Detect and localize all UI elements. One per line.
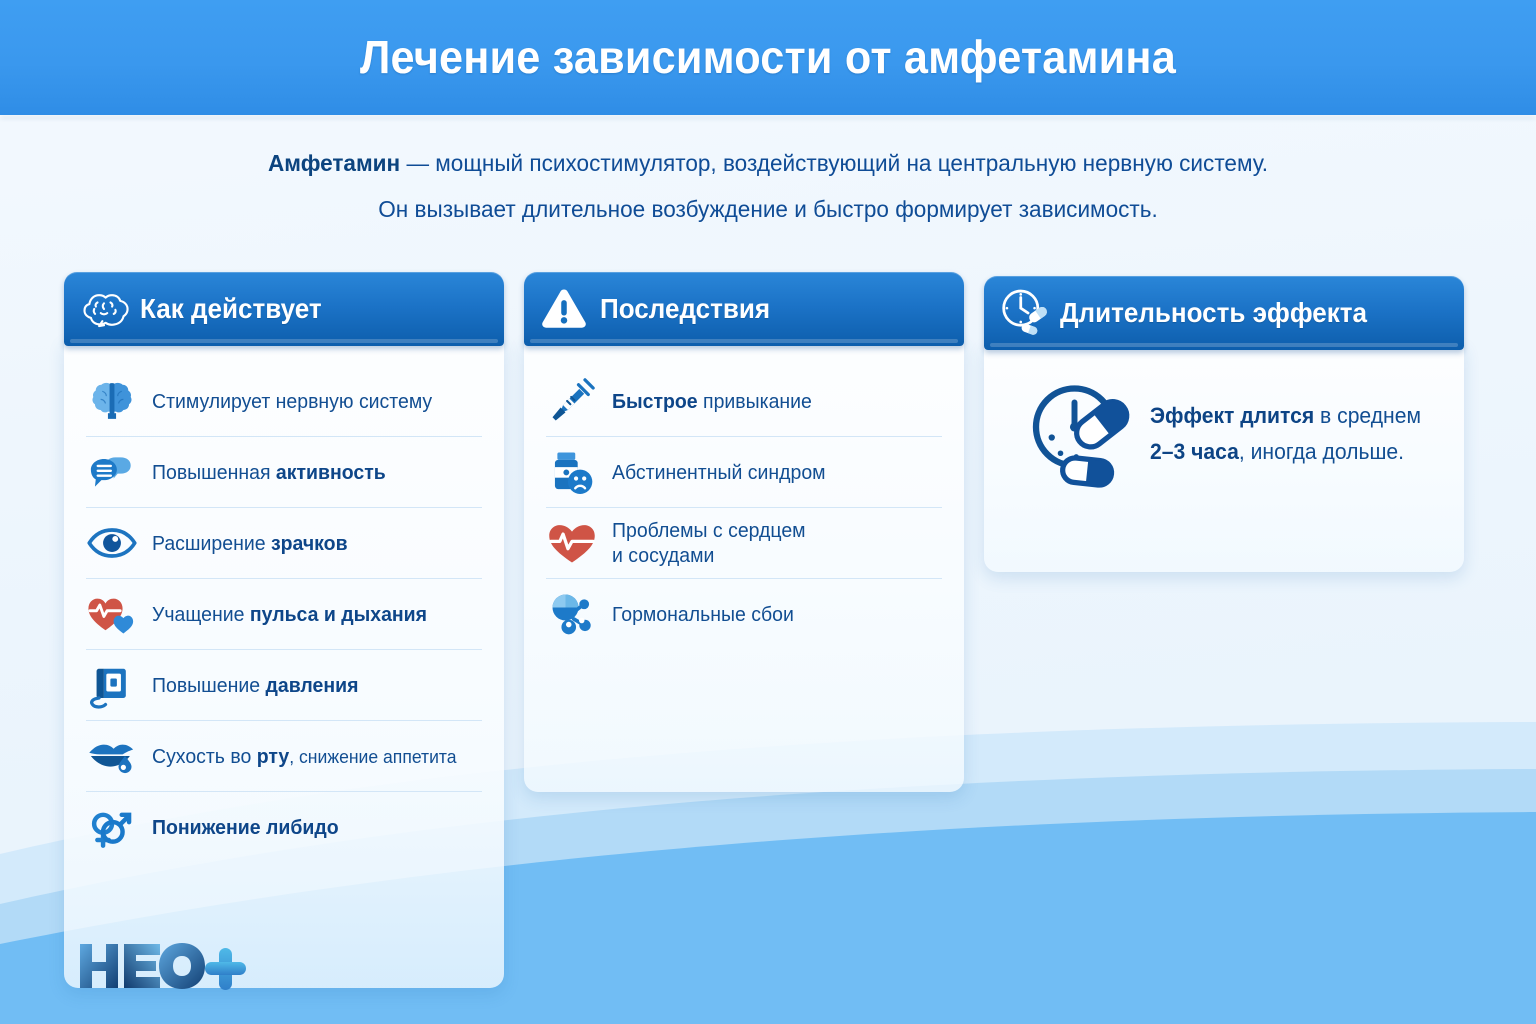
list-item-text: Стимулирует нервную систему — [152, 390, 432, 413]
list-item-emphasis: Быстрое — [612, 390, 703, 413]
effect-duration-bold-1: Эффект длится — [1150, 403, 1314, 428]
list-item-text: Повышенная — [152, 461, 276, 484]
card-effect-duration: Длительность эффекта — [984, 276, 1464, 572]
list-item-text: привыкание — [703, 390, 812, 413]
list-item[interactable]: Понижение либидо — [86, 791, 482, 862]
page-header-banner: Лечение зависимости от амфетамина — [0, 0, 1536, 115]
list-item-label: Быстрое привыкание — [612, 389, 812, 414]
list-item-label: Проблемы с сердцеми сосудами — [612, 518, 806, 568]
list-item[interactable]: Повышение давления — [86, 649, 482, 720]
intro-line-2: Он вызывает длительное возбуждение и быс… — [31, 186, 1506, 232]
intro-text-block: Амфетамин — мощный психостимулятор, возд… — [0, 140, 1536, 232]
clock-pills-large-icon — [1022, 378, 1134, 490]
list-item[interactable]: Повышенная активность — [86, 436, 482, 507]
list-item-text: Понижение либидо — [152, 816, 339, 839]
lips-drop-icon — [86, 730, 138, 782]
card-header: Длительность эффекта — [984, 276, 1464, 350]
list-item-text: Проблемы с сердцем — [612, 519, 806, 542]
list-item[interactable]: Быстрое привыкание — [546, 366, 942, 436]
list-item-text: Учащение — [152, 603, 250, 626]
syringe-icon — [546, 375, 598, 427]
list-item-text-line2: и сосудами — [612, 544, 714, 567]
hormones-molecule-icon — [546, 588, 598, 640]
brain-outline-icon — [78, 283, 130, 335]
hearts-pulse-icon — [86, 588, 138, 640]
blood-pressure-monitor-icon — [86, 659, 138, 711]
effect-duration-bold-2: 2–3 часа — [1150, 439, 1239, 464]
list-item-label: Расширение зрачков — [152, 531, 348, 556]
card-header: Последствия — [524, 272, 964, 346]
list-item-label: Гормональные сбои — [612, 602, 794, 627]
list-item[interactable]: Учащение пульса и дыхания — [86, 578, 482, 649]
list-item-emphasis: зрачков — [271, 532, 348, 555]
card-how-it-works: Как действует Стимулирует нервную систем… — [64, 272, 504, 988]
card-body: Стимулирует нервную систему Повышенная а… — [64, 340, 504, 988]
card-consequences: Последствия Быстрое привыкание — [524, 272, 964, 792]
brand-logo[interactable] — [78, 938, 256, 1000]
list-item-tail: , снижение аппетита — [289, 746, 456, 767]
list-item-label: Учащение пульса и дыхания — [152, 602, 427, 627]
list-item[interactable]: Сухость во рту, снижение аппетита — [86, 720, 482, 791]
eye-icon — [86, 517, 138, 569]
heart-pulse-icon — [546, 517, 598, 569]
list-item-text: Повышение — [152, 674, 266, 697]
card-title: Как действует — [140, 293, 322, 325]
list-item[interactable]: Абстинентный синдром — [546, 436, 942, 507]
effect-duration-text-2: , иногда дольше. — [1239, 439, 1404, 464]
list-item-text: Сухость во — [152, 745, 257, 768]
clock-pills-icon — [998, 287, 1050, 339]
list-item-emphasis: давления — [266, 674, 359, 697]
list-item[interactable]: Гормональные сбои — [546, 578, 942, 649]
speech-bubble-icon — [86, 446, 138, 498]
list-item-label: Стимулирует нервную систему — [152, 389, 432, 414]
pill-bottle-sad-icon — [546, 446, 598, 498]
intro-line-1: Амфетамин — мощный психостимулятор, возд… — [31, 140, 1506, 186]
effect-duration-text-1: в среднем — [1314, 403, 1421, 428]
intro-keyword: Амфетамин — [268, 150, 400, 176]
page-title: Лечение зависимости от амфетамина — [46, 0, 1490, 115]
brain-icon — [86, 375, 138, 427]
card-title: Последствия — [600, 293, 770, 325]
list-item[interactable]: Расширение зрачков — [86, 507, 482, 578]
list-item-label: Понижение либидо — [152, 815, 339, 840]
list-item[interactable]: Проблемы с сердцеми сосудами — [546, 507, 942, 578]
list-item-label: Абстинентный синдром — [612, 460, 826, 485]
list-item-emphasis: активность — [276, 461, 386, 484]
neo-plus-logo-icon — [78, 938, 256, 1000]
effect-duration-text: Эффект длится в среднем 2–3 часа, иногда… — [1150, 398, 1421, 470]
intro-line-1-rest: — мощный психостимулятор, воздействующий… — [400, 150, 1268, 176]
list-item-text: Гормональные сбои — [612, 603, 794, 626]
card-header: Как действует — [64, 272, 504, 346]
card-body: Эффект длится в среднем 2–3 часа, иногда… — [984, 344, 1464, 572]
list-item-label: Повышенная активность — [152, 460, 386, 485]
list-item-emphasis: рту — [257, 745, 290, 768]
list-item-label: Повышение давления — [152, 673, 358, 698]
gender-symbols-icon — [86, 801, 138, 853]
warning-triangle-icon — [538, 283, 590, 335]
effect-duration-block: Эффект длится в среднем 2–3 часа, иногда… — [1006, 378, 1442, 490]
list-item-text: Расширение — [152, 532, 271, 555]
list-item-emphasis: пульса и дыхания — [250, 603, 427, 626]
card-body: Быстрое привыкание Абстинентный синдром — [524, 340, 964, 792]
list-item-label: Сухость во рту, снижение аппетита — [152, 744, 457, 769]
list-item-text: Абстинентный синдром — [612, 461, 826, 484]
list-item[interactable]: Стимулирует нервную систему — [86, 366, 482, 436]
card-title: Длительность эффекта — [1060, 297, 1367, 329]
